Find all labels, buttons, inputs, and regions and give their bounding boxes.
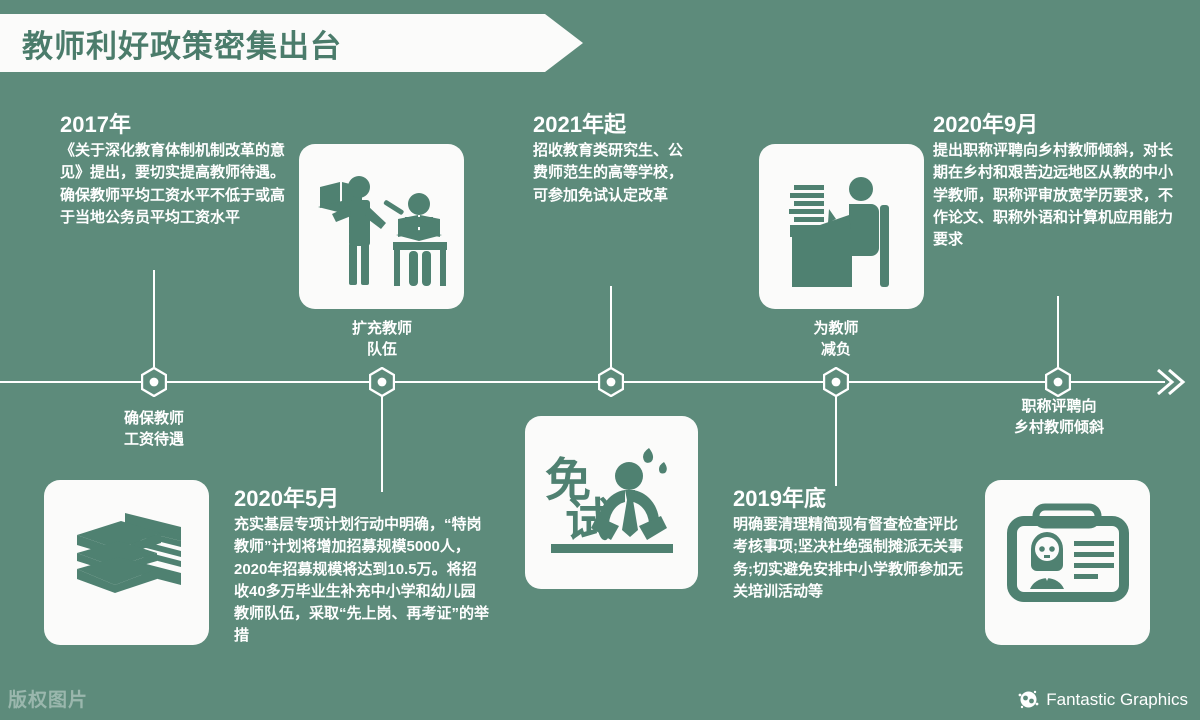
policy-body: 招收教育类研究生、公费师范生的高等学校，可参加免试认定改革 — [533, 140, 695, 207]
timeline-node-4[interactable] — [823, 367, 849, 397]
timeline-caption-1: 确保教师 工资待遇 — [84, 408, 224, 450]
watermark-text: 版权图片 — [8, 685, 88, 712]
timeline-node-1[interactable] — [141, 367, 167, 397]
teacher-and-student-icon — [299, 144, 464, 309]
connector-2 — [381, 396, 383, 492]
timeline-node-3[interactable] — [598, 367, 624, 397]
policy-year: 2020年9月 — [933, 112, 1181, 137]
timeline-caption-3: 为教师 减负 — [766, 318, 906, 360]
policy-year: 2019年底 — [733, 486, 963, 511]
policy-year: 2017年 — [60, 112, 292, 137]
double-chevron-right-icon — [1152, 366, 1186, 398]
timeline-node-5[interactable] — [1045, 367, 1071, 397]
credit-block: Fantastic Graphics — [1018, 689, 1188, 710]
timeline-node-2[interactable] — [369, 367, 395, 397]
policy-block-2020-05: 2020年5月 充实基层专项计划行动中明确，“特岗教师”计划将增加招募规模500… — [234, 486, 490, 647]
policy-body: 充实基层专项计划行动中明确，“特岗教师”计划将增加招募规模5000人，2020年… — [234, 514, 490, 647]
policy-body: 明确要清理精简现有督查检查评比考核事项;坚决杜绝强制摊派无关事务;切实避免安排中… — [733, 514, 963, 603]
connector-1 — [153, 270, 155, 367]
timeline-caption-2: 扩充教师 队伍 — [312, 318, 452, 360]
timeline-caption-4: 职称评聘向 乡村教师倾斜 — [975, 396, 1143, 438]
policy-body: 提出职称评聘向乡村教师倾斜，对长期在乡村和艰苦边远地区从教的中小学教师，职称评审… — [933, 140, 1181, 251]
desk-paperwork-icon — [759, 144, 924, 309]
policy-block-2021: 2021年起 招收教育类研究生、公费师范生的高等学校，可参加免试认定改革 — [533, 112, 695, 207]
money-stacks-icon — [44, 480, 209, 645]
policy-body: 《关于深化教育体制机制改革的意见》提出，要切实提高教师待遇。确保教师平均工资水平… — [60, 140, 292, 229]
id-badge-icon — [985, 480, 1150, 645]
exam-exemption-icon: 免 试 — [525, 416, 698, 589]
policy-block-2019: 2019年底 明确要清理精简现有督查检查评比考核事项;坚决杜绝强制摊派无关事务;… — [733, 486, 963, 603]
connector-5 — [1057, 296, 1059, 367]
connector-4 — [835, 396, 837, 486]
connector-3 — [610, 286, 612, 367]
policy-block-2020-09: 2020年9月 提出职称评聘向乡村教师倾斜，对长期在乡村和艰苦边远地区从教的中小… — [933, 112, 1181, 251]
credit-text: Fantastic Graphics — [1046, 690, 1188, 710]
title-banner: 教师利好政策密集出台 — [0, 14, 545, 72]
policy-year: 2021年起 — [533, 112, 695, 137]
timeline-axis — [0, 381, 1165, 383]
policy-block-2017: 2017年 《关于深化教育体制机制改革的意见》提出，要切实提高教师待遇。确保教师… — [60, 112, 292, 229]
circular-dots-logo-icon — [1018, 689, 1039, 710]
page-title: 教师利好政策密集出台 — [22, 21, 342, 66]
policy-year: 2020年5月 — [234, 486, 490, 511]
